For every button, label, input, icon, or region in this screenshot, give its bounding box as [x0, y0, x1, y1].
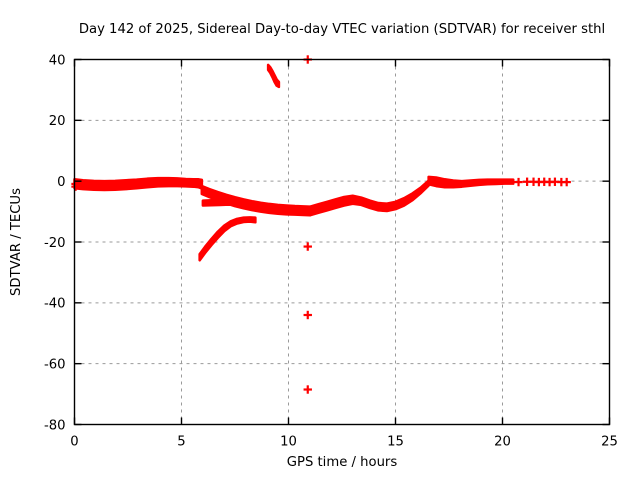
- data-band: [310, 181, 429, 216]
- data-band: [75, 178, 202, 190]
- y-axis-label: SDTVAR / TECUs: [9, 188, 24, 296]
- x-tick-label: 0: [70, 435, 78, 450]
- data-point: [304, 242, 312, 250]
- x-axis-label: GPS time / hours: [287, 455, 398, 470]
- x-tick-label: 25: [601, 435, 618, 450]
- data-band: [200, 217, 256, 260]
- data-point: [304, 385, 312, 393]
- y-tick-label: -60: [44, 357, 66, 372]
- x-tick-label: 5: [177, 435, 185, 450]
- y-tick-label: 40: [49, 53, 66, 68]
- y-tick-label: -80: [44, 418, 66, 433]
- tick-label-group: -80-60-40-20020400510152025: [44, 53, 618, 449]
- plot-root: -80-60-40-20020400510152025 Day 142 of 2…: [0, 0, 640, 480]
- data-band: [203, 200, 244, 206]
- data-group: [71, 55, 571, 393]
- y-tick-label: 20: [49, 114, 66, 129]
- chart-canvas: -80-60-40-20020400510152025 Day 142 of 2…: [0, 0, 640, 480]
- y-tick-label: -20: [44, 236, 66, 251]
- data-band: [429, 177, 514, 187]
- y-tick-label: -40: [44, 297, 66, 312]
- chart-title: Day 142 of 2025, Sidereal Day-to-day VTE…: [79, 22, 605, 37]
- y-tick-label: 0: [57, 175, 65, 190]
- x-tick-label: 15: [387, 435, 404, 450]
- data-point: [304, 311, 312, 319]
- data-point: [563, 178, 571, 186]
- grid-group: [75, 60, 610, 425]
- data-point: [514, 178, 522, 186]
- x-tick-label: 10: [280, 435, 297, 450]
- x-tick-label: 20: [494, 435, 511, 450]
- data-band: [268, 65, 279, 87]
